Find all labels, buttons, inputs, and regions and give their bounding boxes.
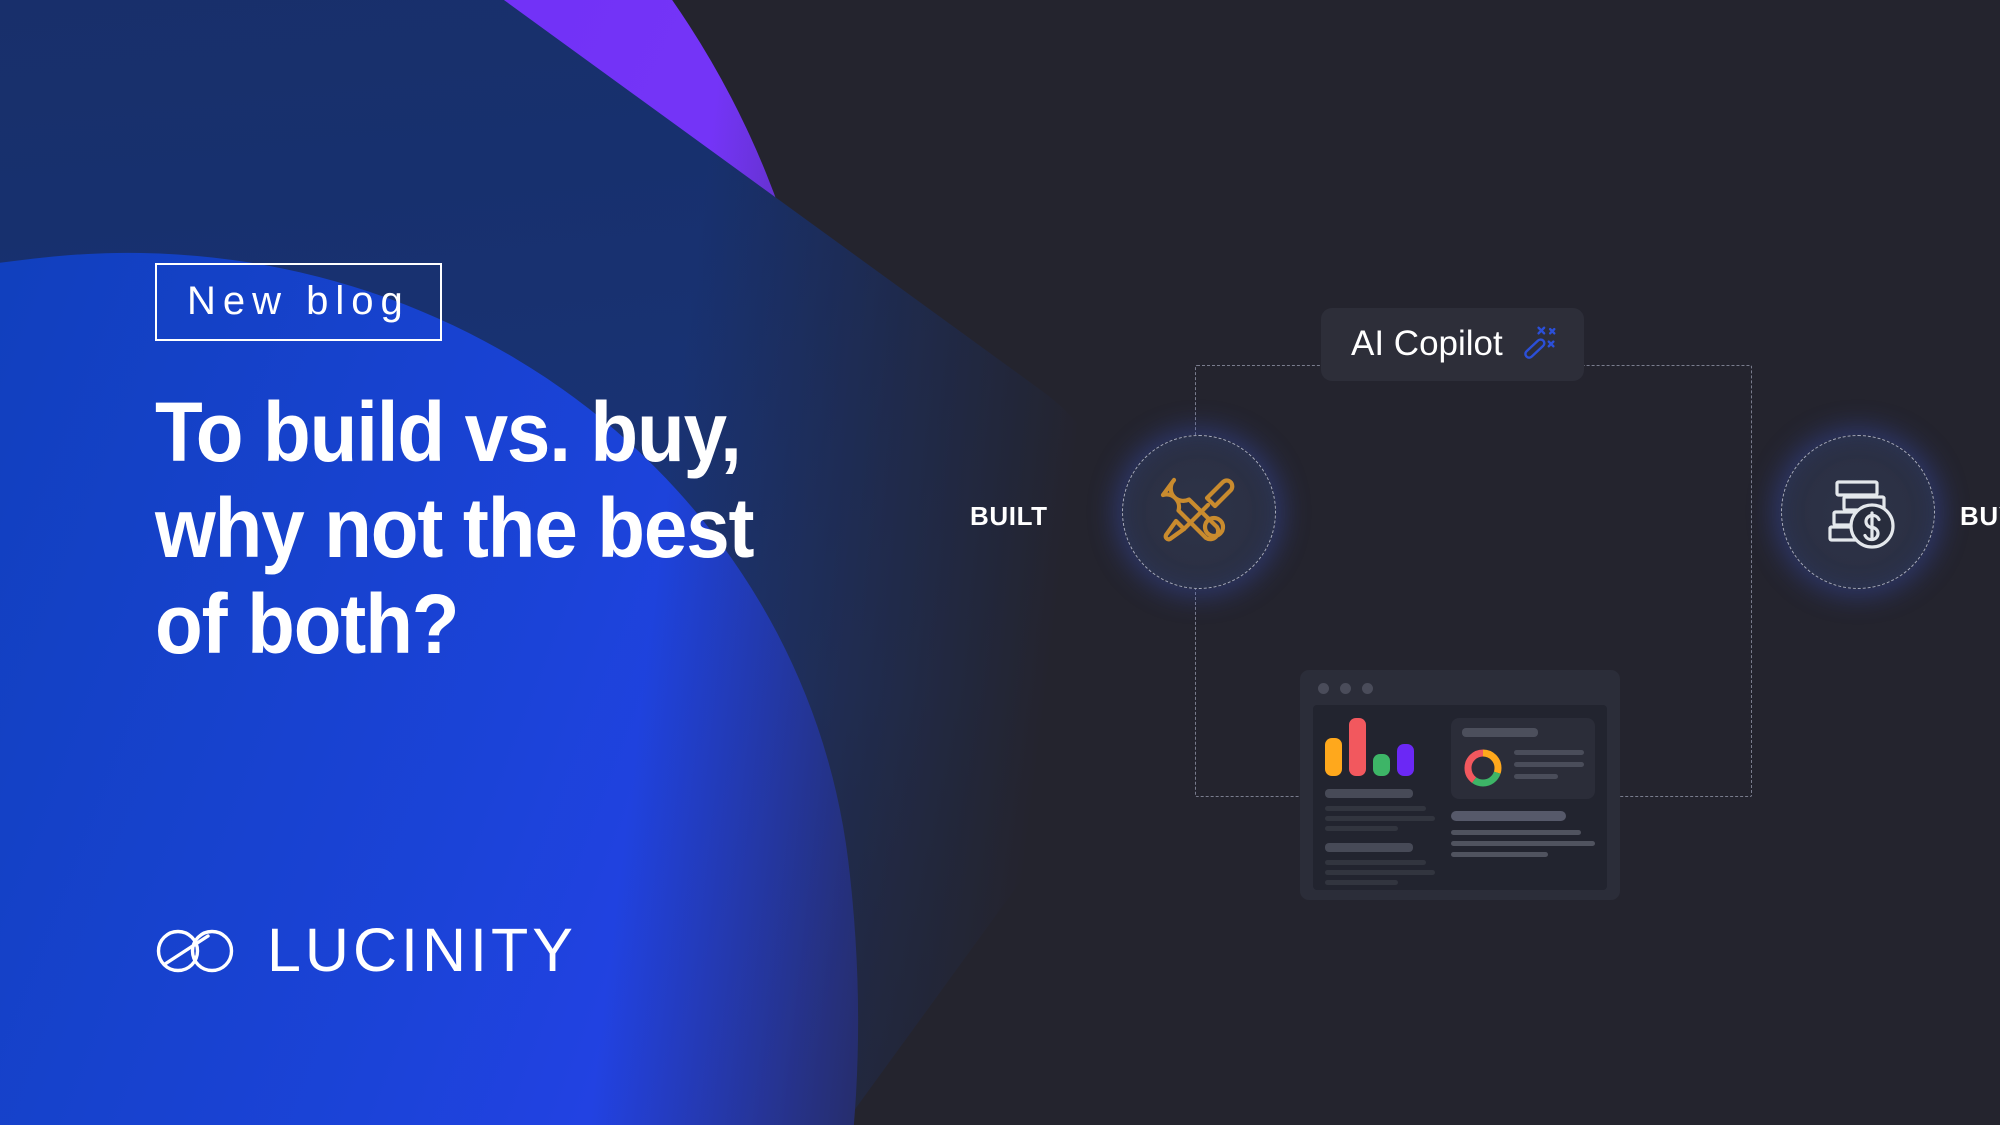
- donut-legend-skeleton: [1514, 750, 1584, 786]
- lucinity-wordmark: LUCINITY: [267, 920, 577, 981]
- donut-row: [1462, 747, 1584, 789]
- skeleton-line: [1451, 841, 1595, 846]
- wrench-screwdriver-icon: [1151, 464, 1247, 560]
- donut-chart: [1462, 747, 1504, 789]
- window-dot: [1362, 683, 1373, 694]
- node-built-label: BUILT: [970, 503, 1048, 529]
- skeleton-line: [1325, 860, 1426, 865]
- blog-promo-banner: New blog To build vs. buy, why not the b…: [0, 0, 2000, 1125]
- dashboard-left-panel: [1313, 705, 1445, 890]
- skeleton-line: [1514, 762, 1584, 767]
- skeleton-heading: [1325, 789, 1413, 798]
- window-control-dots: [1300, 670, 1620, 694]
- skeleton-line: [1325, 870, 1435, 875]
- skeleton-line: [1514, 774, 1557, 779]
- skeleton-line: [1451, 830, 1580, 835]
- bar-4: [1397, 744, 1414, 776]
- bar-chart: [1325, 718, 1435, 776]
- infinity-loop-icon: [155, 928, 241, 974]
- skeleton-line: [1325, 880, 1398, 885]
- new-blog-badge: New blog: [155, 263, 442, 341]
- skeleton-heading: [1451, 811, 1566, 821]
- ai-copilot-pill[interactable]: AI Copilot: [1321, 308, 1584, 381]
- skeleton-line: [1325, 816, 1435, 821]
- headline-line-1: To build vs. buy,: [155, 385, 927, 481]
- skeleton-line: [1325, 826, 1398, 831]
- coins-dollar-icon: [1810, 464, 1906, 560]
- skeleton-heading: [1325, 843, 1413, 852]
- node-built[interactable]: [1122, 435, 1276, 589]
- skeleton-line: [1325, 806, 1426, 811]
- dashboard-window-icon[interactable]: [1300, 670, 1620, 900]
- page-title: To build vs. buy, why not the best of bo…: [155, 385, 927, 672]
- dashboard-right-panel: [1445, 705, 1607, 890]
- headline-line-3: of both?: [155, 577, 927, 673]
- build-vs-buy-diagram: AI Copilot: [1150, 330, 1850, 810]
- new-blog-badge-label: New blog: [187, 279, 410, 323]
- window-dot: [1318, 683, 1329, 694]
- skeleton-heading: [1462, 728, 1537, 737]
- skeleton-group: [1451, 811, 1595, 857]
- skeleton-line: [1451, 852, 1547, 857]
- bar-2: [1349, 718, 1366, 776]
- headline-line-2: why not the best: [155, 481, 927, 577]
- node-buy-label: BUY: [1960, 503, 2000, 529]
- ai-copilot-label: AI Copilot: [1351, 326, 1503, 361]
- skeleton-group: [1325, 843, 1435, 885]
- dashboard-content: [1313, 705, 1607, 890]
- lucinity-logo: LUCINITY: [155, 920, 577, 981]
- bar-1: [1325, 738, 1342, 776]
- node-buy[interactable]: [1781, 435, 1935, 589]
- skeleton-line: [1514, 750, 1584, 755]
- content-column: New blog To build vs. buy, why not the b…: [155, 0, 1055, 1125]
- bar-3: [1373, 754, 1390, 776]
- donut-chart-card: [1451, 718, 1595, 799]
- magic-wand-icon: [1521, 325, 1558, 362]
- skeleton-group: [1325, 789, 1435, 831]
- window-dot: [1340, 683, 1351, 694]
